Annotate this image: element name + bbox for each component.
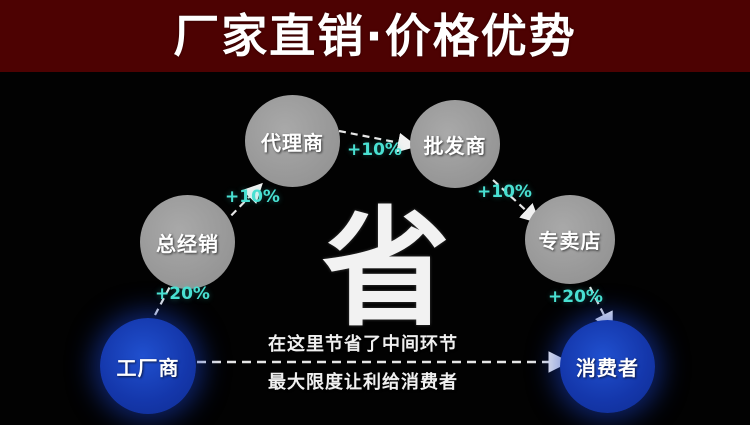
node-consumer-label: 消费者: [576, 352, 639, 381]
node-general-distributor[interactable]: 总经销: [140, 195, 235, 289]
save-glyph: 省: [306, 200, 466, 340]
banner-title: 厂家直销·价格优势: [173, 13, 576, 59]
node-wholesaler-label: 批发商: [424, 130, 487, 159]
node-store[interactable]: 专卖店: [525, 195, 615, 284]
header-banner: 厂家直销·价格优势: [0, 0, 750, 72]
node-agent[interactable]: 代理商: [245, 95, 340, 187]
node-consumer[interactable]: 消费者: [560, 320, 655, 413]
node-factory-label: 工厂商: [117, 352, 180, 381]
markup-store-consumer: +20%: [548, 287, 603, 307]
distribution-chain-diagram: 省 工厂商 总经销 代理商 批发商 专卖店 消费者 +20% +10% +10%…: [0, 72, 750, 425]
promo-banner-image: 厂家直销·价格优势 省 工厂商: [0, 0, 750, 425]
markup-general-agent: +10%: [225, 187, 280, 207]
node-agent-label: 代理商: [261, 127, 324, 156]
node-wholesaler[interactable]: 批发商: [410, 100, 500, 188]
caption-line-2: 最大限度让利给消费者: [268, 368, 458, 394]
markup-wholesaler-store: +10%: [477, 182, 532, 202]
caption-line-1: 在这里节省了中间环节: [268, 330, 458, 356]
markup-factory-general: +20%: [155, 284, 210, 304]
node-factory[interactable]: 工厂商: [100, 318, 196, 414]
node-store-label: 专卖店: [539, 225, 602, 254]
markup-agent-wholesaler: +10%: [347, 140, 402, 160]
node-general-distributor-label: 总经销: [156, 228, 219, 257]
